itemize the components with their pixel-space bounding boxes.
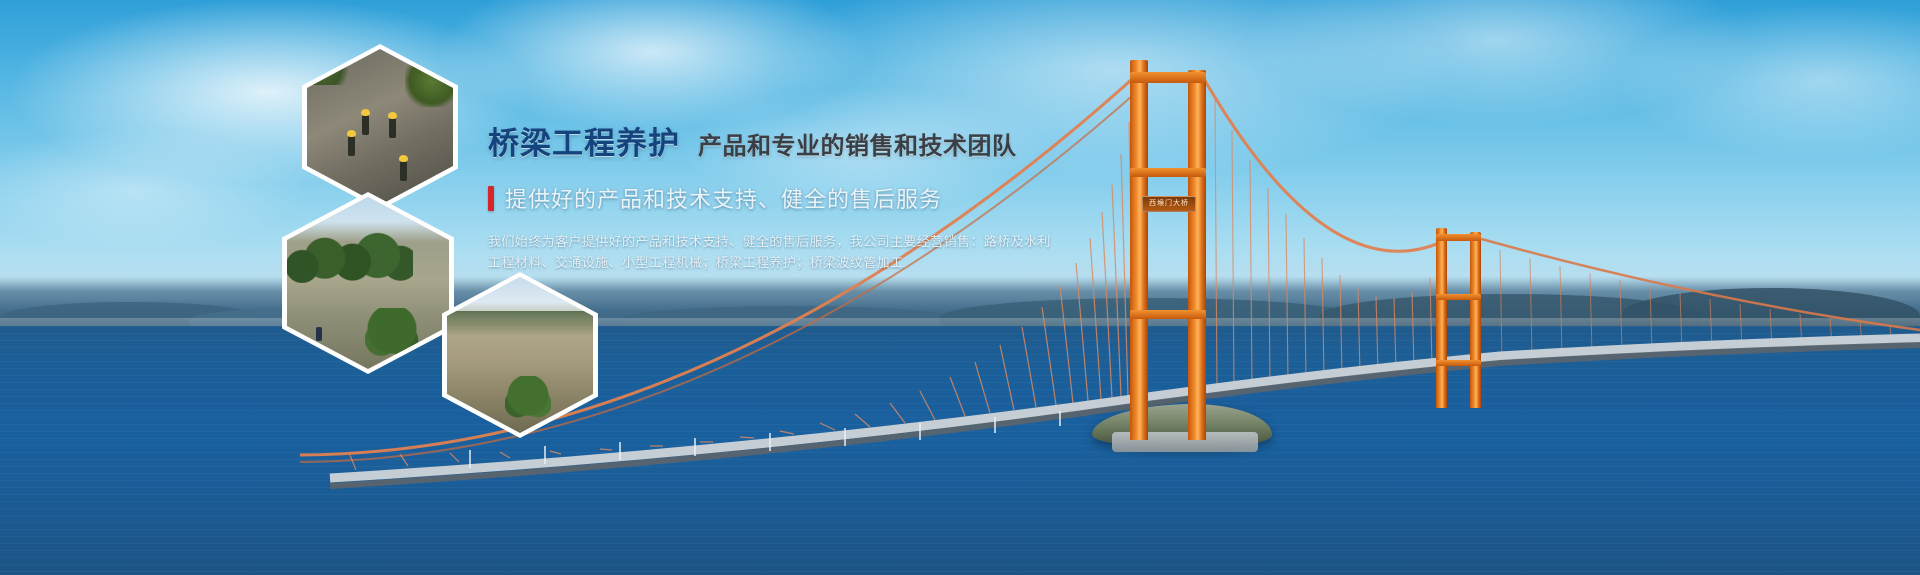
worker-figure xyxy=(362,115,369,135)
banner-subline: 提供好的产品和技术支持、健全的售后服务 xyxy=(488,182,1048,214)
pylon-crossbeam xyxy=(1130,310,1206,319)
banner-body-copy: 我们始终为客户提供好的产品和技术支持、健全的售后服务，我公司主要经营销售：路桥及… xyxy=(488,231,1048,273)
hex-photo-frame xyxy=(307,49,453,205)
bridge-main-pylon xyxy=(1130,60,1208,440)
pylon-leg xyxy=(1470,232,1481,408)
pylon-leg xyxy=(1436,228,1447,408)
body-line-2: 工程材料、交通设施、小型工程机械；桥梁工程养护；桥梁波纹管加工 xyxy=(488,252,1048,273)
ridge-band xyxy=(447,311,593,336)
photo-slope-protection xyxy=(287,197,449,369)
pylon-leg xyxy=(1188,70,1206,440)
worker-figure xyxy=(316,327,322,341)
bridge-far-pylon xyxy=(1436,228,1482,408)
photo-rock-slope-mesh xyxy=(307,49,453,205)
headline-secondary-text: 产品和专业的销售和技术团队 xyxy=(698,126,1017,161)
hex-photo-frame xyxy=(447,277,593,433)
pylon-plaque-text: 西堠门大桥 xyxy=(1142,196,1196,212)
banner-copy-block: 桥梁工程养护 产品和专业的销售和技术团队 提供好的产品和技术支持、健全的售后服务… xyxy=(488,118,1048,273)
hero-banner: 西堠门大桥 xyxy=(0,0,1920,575)
pylon-crossbeam xyxy=(1436,360,1481,366)
pylon-crossbeam xyxy=(1436,294,1481,300)
red-accent-bar-icon xyxy=(488,186,494,211)
worker-figure xyxy=(400,161,407,181)
pylon-crossbeam xyxy=(1130,168,1206,177)
hex-photo-frame xyxy=(287,197,449,369)
tree-shape xyxy=(505,376,551,424)
pylon-crossbeam xyxy=(1130,72,1206,83)
hex-photo-slope-protection-mesh xyxy=(282,192,454,374)
hex-photo-slope-greening xyxy=(442,272,598,438)
headline-main-text: 桥梁工程养护 xyxy=(488,118,680,163)
tree-shape xyxy=(365,308,419,366)
banner-headline: 桥梁工程养护 产品和专业的销售和技术团队 xyxy=(488,118,1048,163)
photo-slope-greening xyxy=(447,277,593,433)
vegetation-patch xyxy=(405,55,453,107)
worker-figure xyxy=(389,118,396,138)
forest-band xyxy=(287,228,413,283)
subline-text: 提供好的产品和技术支持、健全的售后服务 xyxy=(505,182,942,214)
pylon-leg xyxy=(1130,60,1148,440)
pylon-crossbeam xyxy=(1436,234,1481,241)
worker-figure xyxy=(348,136,355,156)
hex-photo-rock-slope-mesh-workers xyxy=(302,44,458,210)
body-line-1: 我们始终为客户提供好的产品和技术支持、健全的售后服务，我公司主要经营销售：路桥及… xyxy=(488,231,1048,252)
vegetation-patch xyxy=(307,49,349,85)
